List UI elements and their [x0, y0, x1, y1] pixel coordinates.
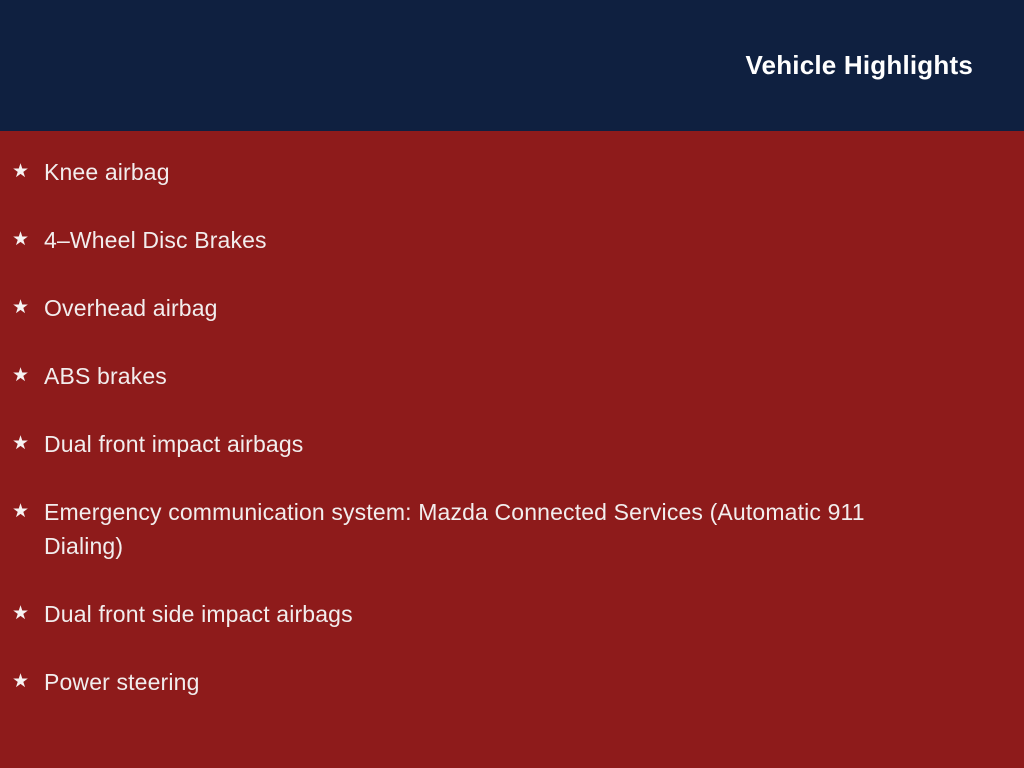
- list-item-label: Dual front impact airbags: [44, 427, 944, 461]
- star-bullet-icon: ★: [12, 291, 44, 325]
- list-item-label: Emergency communication system: Mazda Co…: [44, 495, 944, 563]
- list-item-label: ABS brakes: [44, 359, 944, 393]
- list-item-label: Power steering: [44, 665, 944, 699]
- list-item: ★ Power steering: [12, 665, 984, 699]
- slide-header: Vehicle Highlights: [0, 0, 1024, 131]
- list-item: ★ Emergency communication system: Mazda …: [12, 495, 984, 563]
- highlights-panel: ★ Knee airbag ★ 4–Wheel Disc Brakes ★ Ov…: [0, 131, 1024, 768]
- page-title: Vehicle Highlights: [745, 51, 973, 80]
- list-item: ★ 4–Wheel Disc Brakes: [12, 223, 984, 257]
- list-item: ★ Overhead airbag: [12, 291, 984, 325]
- list-item: ★ Dual front side impact airbags: [12, 597, 984, 631]
- star-bullet-icon: ★: [12, 665, 44, 699]
- star-bullet-icon: ★: [12, 223, 44, 257]
- list-item: ★ Knee airbag: [12, 155, 984, 189]
- list-item-label: 4–Wheel Disc Brakes: [44, 223, 944, 257]
- list-item: ★ Dual front impact airbags: [12, 427, 984, 461]
- star-bullet-icon: ★: [12, 359, 44, 393]
- list-item: ★ ABS brakes: [12, 359, 984, 393]
- star-bullet-icon: ★: [12, 427, 44, 461]
- list-item-label: Overhead airbag: [44, 291, 944, 325]
- star-bullet-icon: ★: [12, 155, 44, 189]
- list-item-label: Knee airbag: [44, 155, 944, 189]
- vehicle-highlights-list: ★ Knee airbag ★ 4–Wheel Disc Brakes ★ Ov…: [12, 155, 984, 699]
- star-bullet-icon: ★: [12, 597, 44, 631]
- list-item-label: Dual front side impact airbags: [44, 597, 944, 631]
- vehicle-highlights-slide: Vehicle Highlights ★ Knee airbag ★ 4–Whe…: [0, 0, 1024, 768]
- star-bullet-icon: ★: [12, 495, 44, 529]
